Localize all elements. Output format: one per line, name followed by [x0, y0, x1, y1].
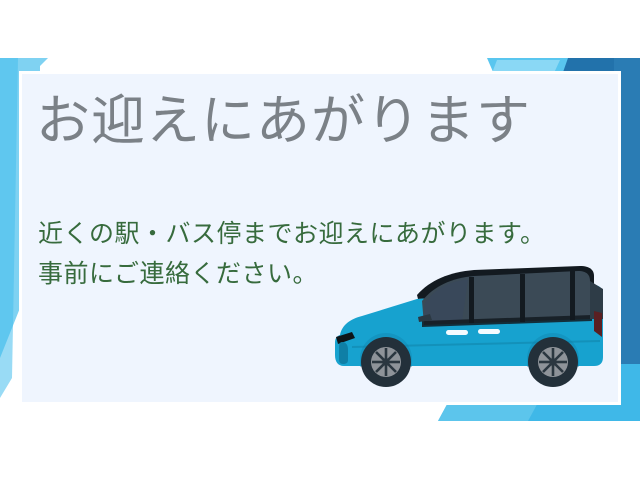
- page-title: お迎えにあがります: [36, 92, 531, 150]
- car-door-handle-front: [446, 330, 468, 335]
- car-pillar-3: [570, 271, 575, 320]
- car-pillar-1: [469, 277, 474, 323]
- body-line-1: 近くの駅・バス停までお迎えにあがります。: [38, 222, 546, 247]
- car-door-handle-rear: [478, 329, 500, 334]
- minivan-illustration: [322, 259, 612, 394]
- banner-image: お迎えにあがります 近くの駅・バス停までお迎えにあがります。 事前にご連絡くださ…: [0, 0, 640, 480]
- banner-region: お迎えにあがります 近くの駅・バス停までお迎えにあがります。 事前にご連絡くださ…: [0, 58, 640, 421]
- car-front-wheel: [361, 337, 411, 387]
- car-front-vent: [339, 342, 348, 364]
- car-rear-wheel: [528, 337, 578, 387]
- car-pillar-2: [520, 274, 525, 322]
- content-card: お迎えにあがります 近くの駅・バス停までお迎えにあがります。 事前にご連絡くださ…: [22, 74, 618, 402]
- body-line-2: 事前にご連絡ください。: [38, 262, 318, 287]
- content-area: お迎えにあがります 近くの駅・バス停までお迎えにあがります。 事前にご連絡くださ…: [22, 74, 618, 402]
